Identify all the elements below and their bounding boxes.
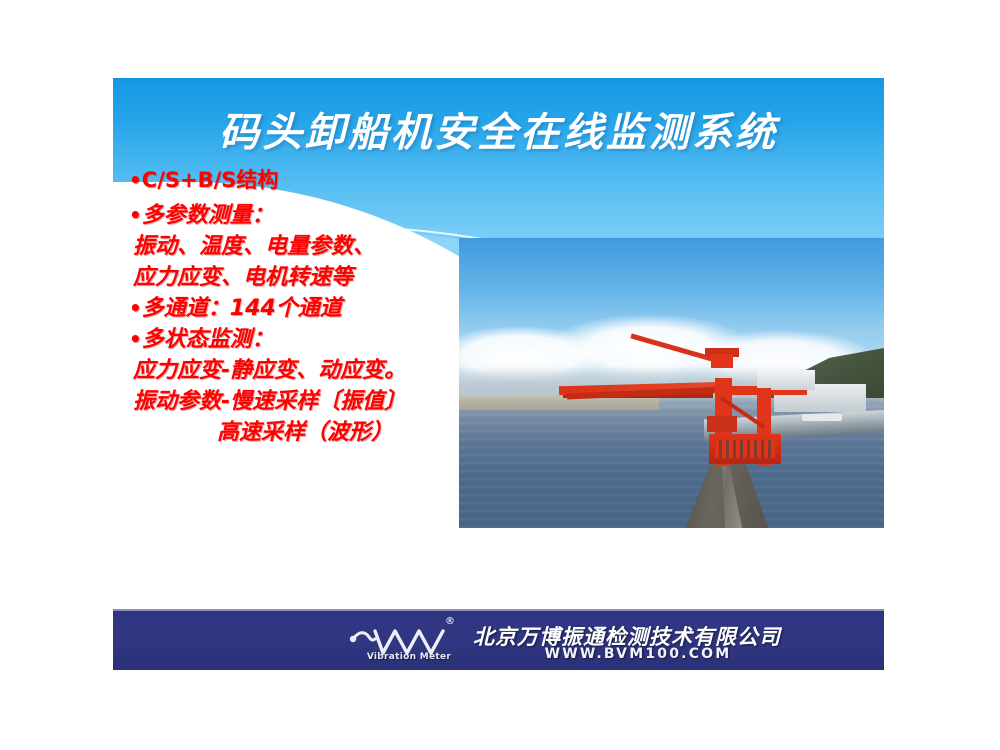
list-item: •多通道：144个通道 xyxy=(129,298,489,320)
list-item-label: 应力应变-静应变、动应变。 xyxy=(133,358,406,383)
bullet-marker: • xyxy=(129,203,142,227)
company-website[interactable]: WWW.BVM100.COM xyxy=(473,646,803,662)
footer-top-highlight xyxy=(113,609,884,611)
list-item-label: C/S+B/S结构 xyxy=(142,168,279,192)
crane-base-lattice xyxy=(715,440,775,458)
photo-shoreline xyxy=(459,396,659,410)
list-item-label: 多参数测量： xyxy=(142,203,274,228)
list-item-label: 多通道：144个通道 xyxy=(142,296,342,321)
list-item: •多状态监测： xyxy=(129,329,489,351)
logo-caption: Vibration Meter xyxy=(359,652,459,662)
list-item: 振动参数-慢速采样〔振值〕 xyxy=(133,391,489,413)
list-item: 应力应变-静应变、动应变。 xyxy=(133,360,489,382)
list-item-label: 振动、温度、电量参数、 xyxy=(133,234,375,259)
crane-apex-tower xyxy=(711,354,733,368)
crane-machinery-house xyxy=(707,416,737,432)
list-item-label: 振动参数-慢速采样〔振值〕 xyxy=(133,389,406,414)
presentation-slide: 码头卸船机安全在线监测系统 •C/S+B/S结构 •多参数测量： 振动、温度、电… xyxy=(113,78,884,670)
list-item: •多参数测量： xyxy=(129,205,489,227)
list-item: 振动、温度、电量参数、 xyxy=(133,236,489,258)
page-title: 码头卸船机安全在线监测系统 xyxy=(113,100,884,158)
crane-photograph: 宁波大榭 xyxy=(459,238,884,528)
list-item-label: 多状态监测： xyxy=(142,327,274,352)
photo-boat xyxy=(802,414,842,421)
bullet-marker: • xyxy=(129,296,142,320)
list-item: 应力应变、电机转速等 xyxy=(133,267,489,289)
bullet-list: •C/S+B/S结构 •多参数测量： 振动、温度、电量参数、 应力应变、电机转速… xyxy=(129,170,489,444)
crane-cabin: 宁波大榭 xyxy=(757,370,815,390)
list-item-label: 高速采样（波形） xyxy=(217,420,393,445)
bullet-marker: • xyxy=(129,168,142,192)
registered-trademark-icon: ® xyxy=(445,616,455,627)
bullet-marker: • xyxy=(129,327,142,351)
list-item: 高速采样（波形） xyxy=(217,422,489,444)
list-item: •C/S+B/S结构 xyxy=(129,170,489,191)
list-item-label: 应力应变、电机转速等 xyxy=(133,265,353,290)
